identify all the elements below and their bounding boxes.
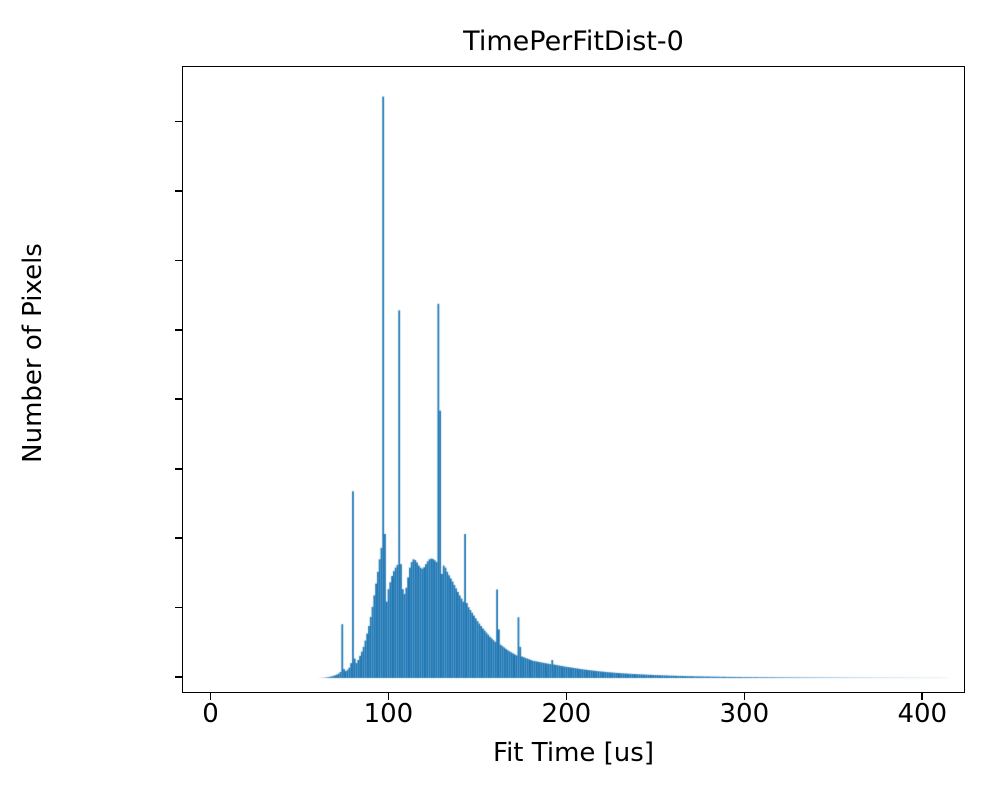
plot-area (182, 66, 965, 693)
y-tick-mark (175, 676, 182, 678)
x-tick-label: 400 (862, 699, 982, 729)
x-tick-mark (388, 693, 390, 700)
x-tick-label: 100 (328, 699, 448, 729)
x-tick-label: 200 (506, 699, 626, 729)
y-tick-mark (175, 607, 182, 609)
x-tick-mark (210, 693, 212, 700)
y-tick-mark (175, 260, 182, 262)
x-tick-label: 0 (150, 699, 270, 729)
y-tick-mark (175, 468, 182, 470)
y-tick-mark (175, 537, 182, 539)
x-tick-label: 300 (684, 699, 804, 729)
x-tick-mark (566, 693, 568, 700)
y-tick-mark (175, 190, 182, 192)
y-tick-mark (175, 398, 182, 400)
y-tick-mark (175, 329, 182, 331)
page-title: TimePerFitDist-0 (182, 26, 965, 58)
y-tick-mark (175, 121, 182, 123)
y-axis-label: Number of Pixels (19, 203, 47, 503)
x-tick-mark (921, 693, 923, 700)
histogram-bars (183, 67, 966, 694)
x-axis-label: Fit Time [us] (182, 738, 965, 768)
figure-canvas: TimePerFitDist-0 02000400060008000100001… (0, 0, 1000, 800)
x-tick-mark (744, 693, 746, 700)
